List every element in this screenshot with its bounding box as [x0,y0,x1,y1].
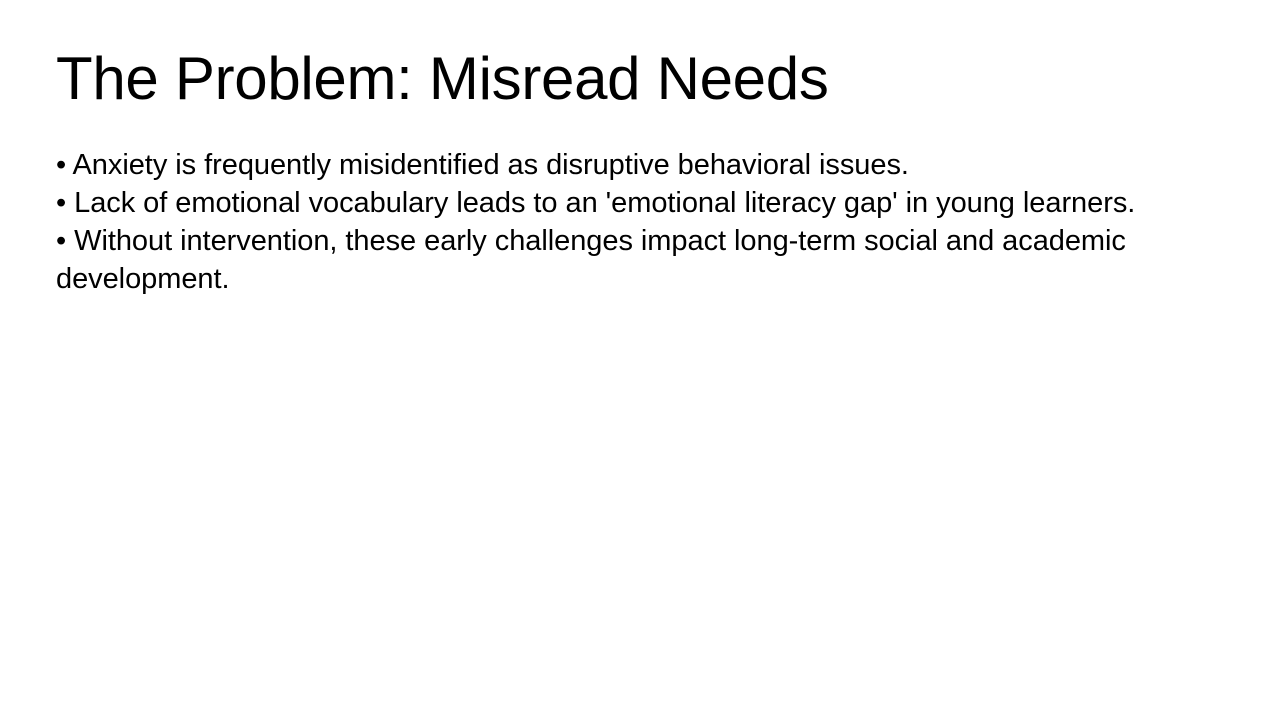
list-item: • Lack of emotional vocabulary leads to … [56,184,1191,222]
slide-canvas: The Problem: Misread Needs • Anxiety is … [0,0,1280,720]
bullet-icon: • [56,149,66,181]
bullet-icon: • [56,187,66,219]
list-item: • Anxiety is frequently misidentified as… [56,146,1191,184]
list-item-text: Without intervention, these early challe… [56,225,1126,295]
list-item-text: Lack of emotional vocabulary leads to an… [66,187,1135,219]
slide-body: • Anxiety is frequently misidentified as… [56,146,1191,298]
bullet-icon: • [56,225,66,257]
page-title: The Problem: Misread Needs [56,47,1226,112]
list-item: • Without intervention, these early chal… [56,222,1191,298]
list-item-text: Anxiety is frequently misidentified as d… [66,149,909,181]
